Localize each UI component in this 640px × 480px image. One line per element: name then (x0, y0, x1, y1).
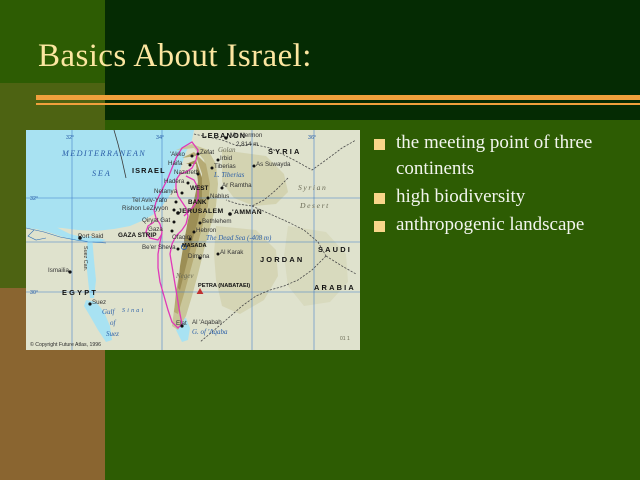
svg-text:Elat: Elat (176, 320, 187, 327)
svg-text:As Suwayda: As Suwayda (256, 161, 291, 168)
svg-text:BANK: BANK (188, 199, 207, 206)
svg-text:Dimona: Dimona (188, 253, 210, 260)
svg-text:Desert: Desert (299, 201, 330, 210)
svg-text:32°: 32° (66, 135, 74, 141)
svg-text:Port Said: Port Said (78, 233, 104, 240)
svg-text:SAUDI: SAUDI (318, 245, 352, 254)
list-item: high biodiversity (374, 184, 632, 210)
svg-text:Gulf: Gulf (102, 308, 116, 316)
svg-text:Suez: Suez (92, 299, 106, 306)
svg-text:MEDITERRANEAN: MEDITERRANEAN (61, 149, 146, 158)
svg-text:Sinai: Sinai (122, 308, 145, 314)
svg-text:36°: 36° (308, 135, 316, 141)
svg-text:ISRAEL: ISRAEL (132, 166, 166, 175)
svg-text:30°: 30° (30, 290, 38, 296)
bullet-square-icon (374, 193, 385, 204)
svg-text:Tel Aviv-Yafo: Tel Aviv-Yafo (132, 197, 168, 204)
svg-text:JERUSALEM: JERUSALEM (178, 208, 224, 215)
slide-dark-panel (105, 83, 640, 120)
bullet-text: high biodiversity (396, 184, 632, 210)
svg-text:Suez: Suez (106, 330, 119, 338)
svg-text:JORDAN: JORDAN (260, 255, 304, 264)
svg-text:EGYPT: EGYPT (62, 288, 98, 297)
svg-text:Hebron: Hebron (196, 227, 217, 234)
svg-text:Ismailia: Ismailia (48, 267, 70, 274)
svg-text:Mt. Hermon: Mt. Hermon (230, 132, 263, 139)
svg-text:Ofaqim: Ofaqim (172, 234, 192, 241)
svg-text:GAZA STRIP: GAZA STRIP (118, 232, 157, 239)
bullet-list: the meeting point of three continents hi… (374, 130, 632, 240)
svg-text:Be'er Sheva: Be'er Sheva (142, 244, 176, 251)
israel-region-map: .sea { fill:#a8e2f2; } .land { fill:#dfe… (26, 130, 360, 350)
svg-text:ARABIA: ARABIA (314, 283, 356, 292)
svg-text:Hadera: Hadera (164, 178, 185, 185)
svg-text:'AMMAN: 'AMMAN (232, 209, 262, 216)
svg-text:SYRIA: SYRIA (268, 147, 302, 156)
svg-text:Al Karak: Al Karak (220, 249, 244, 256)
svg-text:WEST: WEST (190, 185, 209, 192)
svg-text:2,814 m: 2,814 m (236, 141, 258, 148)
bullet-text: the meeting point of three continents (396, 130, 632, 182)
svg-text:Suez Can.: Suez Can. (82, 246, 88, 271)
bullet-square-icon (374, 139, 385, 150)
slide-title: Basics About Israel: (38, 36, 312, 76)
list-item: the meeting point of three continents (374, 130, 632, 182)
svg-text:Golan: Golan (218, 146, 236, 154)
title-rule-thin (36, 103, 640, 105)
svg-text:Negev: Negev (175, 272, 194, 280)
svg-text:Tiberias: Tiberias (214, 163, 236, 170)
svg-text:Bethlehem: Bethlehem (202, 218, 232, 225)
title-rule-thick (36, 95, 640, 100)
svg-text:Rishon LeZiyyon: Rishon LeZiyyon (122, 205, 169, 212)
svg-text:G. of 'Aqaba: G. of 'Aqaba (192, 328, 228, 336)
list-item: anthropogenic landscape (374, 212, 632, 238)
svg-text:Syrian: Syrian (298, 183, 327, 192)
svg-text:34°: 34° (156, 135, 164, 141)
svg-text:L. Tiberias: L. Tiberias (213, 171, 245, 179)
svg-text:PETRA (NABATAEI): PETRA (NABATAEI) (198, 283, 250, 289)
svg-text:Netanya: Netanya (154, 188, 178, 195)
svg-text:'Akko: 'Akko (170, 151, 185, 158)
svg-text:Al 'Aqabah: Al 'Aqabah (192, 319, 222, 326)
svg-text:32°: 32° (30, 196, 38, 202)
bullet-square-icon (374, 221, 385, 232)
svg-text:Nazareth: Nazareth (174, 169, 200, 176)
bullet-text: anthropogenic landscape (396, 212, 632, 238)
svg-text:Nablus: Nablus (210, 193, 229, 200)
svg-text:SEA: SEA (92, 169, 112, 178)
svg-text:Haifa: Haifa (168, 160, 183, 167)
svg-text:Gaza: Gaza (148, 226, 163, 233)
svg-text:Irbid: Irbid (220, 155, 233, 162)
svg-text:Zefat: Zefat (200, 149, 214, 156)
slide: Basics About Israel: .sea { fill:#a8e2f2… (0, 0, 640, 480)
svg-text:Qiryat Gat: Qiryat Gat (142, 217, 170, 224)
svg-text:The Dead Sea (-408 m): The Dead Sea (-408 m) (206, 234, 272, 242)
svg-text:Ar Ramtha: Ar Ramtha (222, 182, 252, 189)
svg-text:01 1: 01 1 (340, 336, 350, 342)
svg-text:© Copyright Future Atlas, 1996: © Copyright Future Atlas, 1996 (30, 341, 101, 348)
svg-text:MASADA: MASADA (182, 243, 207, 249)
